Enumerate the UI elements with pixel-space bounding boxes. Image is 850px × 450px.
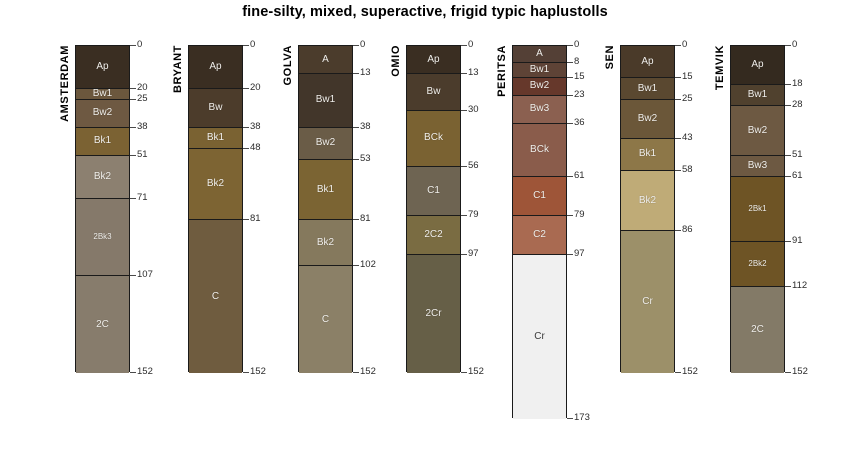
profile-site-name: GOLVA bbox=[282, 45, 294, 85]
horizon-label: Bw2 bbox=[748, 126, 767, 136]
horizon-label: Bw2 bbox=[530, 81, 549, 91]
depth-tick-label: 79 bbox=[574, 210, 585, 220]
depth-tick bbox=[130, 45, 136, 46]
horizon-label: A bbox=[536, 49, 543, 59]
horizon-label: C2 bbox=[533, 230, 546, 240]
profile-site-name: SEN bbox=[604, 45, 616, 69]
depth-tick bbox=[353, 372, 359, 373]
depth-tick bbox=[353, 219, 359, 220]
soil-horizon[interactable]: 2C2 bbox=[407, 216, 460, 255]
soil-horizon[interactable]: Cr bbox=[513, 255, 566, 419]
depth-tick-label: 102 bbox=[360, 260, 376, 270]
depth-tick bbox=[353, 127, 359, 128]
horizon-label: 2C2 bbox=[424, 230, 442, 240]
soil-horizon[interactable]: C2 bbox=[513, 216, 566, 255]
depth-tick bbox=[785, 241, 791, 242]
soil-horizon[interactable]: Bw3 bbox=[731, 156, 784, 178]
depth-tick-label: 0 bbox=[250, 40, 255, 50]
depth-tick bbox=[130, 88, 136, 89]
soil-horizon[interactable]: Bk1 bbox=[299, 160, 352, 220]
profile-site-name: TEMVIK bbox=[714, 45, 726, 90]
depth-tick bbox=[675, 230, 681, 231]
soil-horizon[interactable]: Bk1 bbox=[76, 128, 129, 156]
depth-tick bbox=[785, 105, 791, 106]
depth-tick bbox=[353, 265, 359, 266]
horizon-label: C bbox=[212, 292, 219, 302]
horizon-label: Cr bbox=[642, 297, 653, 307]
depth-tick-label: 97 bbox=[574, 249, 585, 259]
soil-horizon[interactable]: 2Bk2 bbox=[731, 242, 784, 287]
depth-tick bbox=[130, 155, 136, 156]
depth-tick-label: 152 bbox=[250, 367, 266, 377]
depth-tick bbox=[675, 138, 681, 139]
soil-horizon[interactable]: Bw2 bbox=[299, 128, 352, 160]
soil-horizon[interactable]: Ap bbox=[189, 46, 242, 89]
depth-tick-label: 38 bbox=[137, 122, 148, 132]
horizon-label: Ap bbox=[641, 57, 653, 67]
depth-tick-label: 0 bbox=[792, 40, 797, 50]
depth-tick bbox=[567, 95, 573, 96]
horizon-label: Bw bbox=[427, 87, 441, 97]
horizon-label: Bw1 bbox=[748, 90, 767, 100]
soil-horizon[interactable]: Ap bbox=[76, 46, 129, 89]
soil-profile-chart: fine-silty, mixed, superactive, frigid t… bbox=[0, 0, 850, 450]
depth-tick-label: 0 bbox=[574, 40, 579, 50]
depth-tick bbox=[130, 99, 136, 100]
depth-tick-label: 18 bbox=[792, 79, 803, 89]
soil-horizon[interactable]: A bbox=[513, 46, 566, 63]
horizon-label: Bk1 bbox=[317, 185, 334, 195]
horizon-label: 2Bk1 bbox=[748, 205, 766, 213]
horizon-label: Bk2 bbox=[94, 172, 111, 182]
depth-tick-label: 15 bbox=[682, 72, 693, 82]
depth-tick bbox=[675, 372, 681, 373]
depth-tick-label: 0 bbox=[360, 40, 365, 50]
soil-horizon[interactable]: Bk2 bbox=[189, 149, 242, 220]
depth-tick-label: 173 bbox=[574, 413, 590, 423]
depth-tick bbox=[243, 88, 249, 89]
depth-tick bbox=[675, 170, 681, 171]
depth-tick bbox=[675, 45, 681, 46]
depth-tick-label: 61 bbox=[574, 171, 585, 181]
horizon-label: Ap bbox=[96, 62, 108, 72]
profile-column: ABw1Bw2Bw3BCkC1C2Cr bbox=[512, 45, 567, 418]
soil-horizon[interactable]: Bk2 bbox=[299, 220, 352, 265]
soil-horizon[interactable]: Bk1 bbox=[189, 128, 242, 150]
depth-tick-label: 112 bbox=[792, 281, 807, 291]
soil-horizon[interactable]: BCk bbox=[407, 111, 460, 167]
horizon-label: Bw bbox=[209, 103, 223, 113]
soil-horizon[interactable]: Bw3 bbox=[513, 96, 566, 124]
depth-tick bbox=[567, 254, 573, 255]
soil-horizon[interactable]: Bw1 bbox=[621, 78, 674, 100]
depth-tick-label: 48 bbox=[250, 143, 261, 153]
horizon-label: Bw3 bbox=[530, 104, 549, 114]
soil-horizon[interactable]: Bw2 bbox=[731, 106, 784, 156]
depth-tick-label: 71 bbox=[137, 193, 148, 203]
soil-horizon[interactable]: C bbox=[299, 266, 352, 374]
horizon-label: Bk1 bbox=[94, 136, 111, 146]
soil-horizon[interactable]: Cr bbox=[621, 231, 674, 373]
soil-horizon[interactable]: Bk2 bbox=[621, 171, 674, 231]
depth-tick bbox=[243, 219, 249, 220]
soil-horizon[interactable]: 2Bk1 bbox=[731, 177, 784, 242]
depth-tick bbox=[675, 99, 681, 100]
depth-tick bbox=[567, 123, 573, 124]
profile-site-name: AMSTERDAM bbox=[59, 45, 71, 122]
depth-tick-label: 0 bbox=[468, 40, 473, 50]
soil-horizon[interactable]: C1 bbox=[513, 177, 566, 216]
profile-column: ApBw1Bw2Bk1Bk2Cr bbox=[620, 45, 675, 372]
horizon-label: 2Bk3 bbox=[93, 233, 111, 241]
depth-tick-label: 152 bbox=[137, 367, 153, 377]
depth-tick-label: 107 bbox=[137, 270, 153, 280]
depth-tick bbox=[130, 198, 136, 199]
horizon-label: C1 bbox=[533, 191, 546, 201]
depth-tick-label: 91 bbox=[792, 236, 803, 246]
depth-tick-label: 79 bbox=[468, 210, 479, 220]
depth-tick-label: 15 bbox=[574, 72, 585, 82]
horizon-label: BCk bbox=[530, 145, 549, 155]
depth-tick-label: 25 bbox=[137, 94, 148, 104]
soil-horizon[interactable]: Ap bbox=[621, 46, 674, 78]
depth-tick bbox=[567, 45, 573, 46]
depth-tick-label: 97 bbox=[468, 249, 479, 259]
profile-site-name: BRYANT bbox=[172, 45, 184, 93]
horizon-label: 2Bk2 bbox=[748, 260, 766, 268]
depth-tick-label: 61 bbox=[792, 171, 803, 181]
soil-horizon[interactable]: 2C bbox=[731, 287, 784, 373]
depth-tick-label: 152 bbox=[360, 367, 376, 377]
horizon-label: Cr bbox=[534, 332, 545, 342]
depth-tick-label: 51 bbox=[792, 150, 803, 160]
depth-tick bbox=[461, 45, 467, 46]
depth-tick bbox=[785, 286, 791, 287]
depth-tick bbox=[353, 159, 359, 160]
soil-horizon[interactable]: C bbox=[189, 220, 242, 373]
soil-horizon[interactable]: 2Cr bbox=[407, 255, 460, 373]
depth-tick bbox=[243, 372, 249, 373]
depth-tick bbox=[243, 127, 249, 128]
profile-column: ApBwBCkC12C22Cr bbox=[406, 45, 461, 372]
depth-tick bbox=[461, 110, 467, 111]
soil-horizon[interactable]: Bw1 bbox=[76, 89, 129, 100]
horizon-label: C1 bbox=[427, 186, 440, 196]
depth-tick-label: 30 bbox=[468, 105, 479, 115]
depth-tick-label: 51 bbox=[137, 150, 148, 160]
profile-site-name: PERITSA bbox=[496, 45, 508, 97]
soil-horizon[interactable]: Bk2 bbox=[76, 156, 129, 199]
depth-tick-label: 81 bbox=[250, 214, 261, 224]
soil-horizon[interactable]: Ap bbox=[731, 46, 784, 85]
horizon-label: A bbox=[322, 55, 329, 65]
horizon-label: C bbox=[322, 315, 329, 325]
depth-tick bbox=[243, 45, 249, 46]
soil-horizon[interactable]: A bbox=[299, 46, 352, 74]
soil-horizon[interactable]: Bw bbox=[407, 74, 460, 111]
horizon-label: Bw2 bbox=[93, 108, 112, 118]
horizon-label: Bk1 bbox=[207, 133, 224, 143]
profile-site-name: OMIO bbox=[390, 45, 402, 77]
horizon-label: 2C bbox=[96, 320, 109, 330]
depth-tick-label: 13 bbox=[360, 68, 371, 78]
profile-column: ApBw1Bw2Bk1Bk22Bk32C bbox=[75, 45, 130, 372]
soil-horizon[interactable]: Bw1 bbox=[299, 74, 352, 128]
profile-column: ApBw1Bw2Bw32Bk12Bk22C bbox=[730, 45, 785, 372]
depth-tick-label: 0 bbox=[137, 40, 142, 50]
horizon-label: Bw1 bbox=[316, 95, 335, 105]
depth-tick-label: 8 bbox=[574, 57, 579, 67]
depth-tick-label: 43 bbox=[682, 133, 693, 143]
soil-horizon[interactable]: Ap bbox=[407, 46, 460, 74]
horizon-label: Bk1 bbox=[639, 149, 656, 159]
depth-tick-label: 86 bbox=[682, 225, 693, 235]
depth-tick bbox=[461, 73, 467, 74]
horizon-label: Bk2 bbox=[317, 238, 334, 248]
soil-horizon[interactable]: Bw bbox=[189, 89, 242, 128]
depth-tick-label: 28 bbox=[792, 100, 803, 110]
depth-tick bbox=[567, 62, 573, 63]
depth-tick-label: 152 bbox=[468, 367, 484, 377]
horizon-label: Bk2 bbox=[639, 196, 656, 206]
depth-tick bbox=[243, 148, 249, 149]
soil-horizon[interactable]: Bw1 bbox=[513, 63, 566, 78]
depth-tick bbox=[130, 127, 136, 128]
soil-horizon[interactable]: BCk bbox=[513, 124, 566, 178]
horizon-label: Bw1 bbox=[93, 89, 112, 99]
horizon-label: Bw1 bbox=[638, 84, 657, 94]
depth-tick-label: 58 bbox=[682, 165, 693, 175]
depth-tick bbox=[130, 275, 136, 276]
depth-tick bbox=[785, 84, 791, 85]
horizon-label: Bw3 bbox=[748, 161, 767, 171]
depth-tick bbox=[567, 215, 573, 216]
depth-tick bbox=[461, 215, 467, 216]
profile-column: ABw1Bw2Bk1Bk2C bbox=[298, 45, 353, 372]
horizon-label: Ap bbox=[427, 55, 439, 65]
depth-tick bbox=[461, 254, 467, 255]
soil-horizon[interactable]: Bw2 bbox=[513, 78, 566, 95]
depth-tick-label: 53 bbox=[360, 154, 371, 164]
depth-tick bbox=[461, 166, 467, 167]
soil-horizon[interactable]: 2Bk3 bbox=[76, 199, 129, 277]
horizon-label: Bw2 bbox=[316, 138, 335, 148]
depth-tick bbox=[461, 372, 467, 373]
horizon-label: Bk2 bbox=[207, 179, 224, 189]
depth-tick-label: 152 bbox=[682, 367, 698, 377]
depth-tick bbox=[130, 372, 136, 373]
depth-tick bbox=[353, 45, 359, 46]
horizon-label: 2Cr bbox=[425, 309, 441, 319]
chart-title: fine-silty, mixed, superactive, frigid t… bbox=[0, 4, 850, 20]
depth-tick bbox=[785, 372, 791, 373]
depth-tick bbox=[785, 45, 791, 46]
depth-tick-label: 25 bbox=[682, 94, 693, 104]
soil-horizon[interactable]: 2C bbox=[76, 276, 129, 373]
depth-tick-label: 23 bbox=[574, 90, 585, 100]
horizon-label: Ap bbox=[751, 60, 763, 70]
depth-tick-label: 13 bbox=[468, 68, 479, 78]
horizon-label: BCk bbox=[424, 133, 443, 143]
soil-horizon[interactable]: Bw1 bbox=[731, 85, 784, 107]
profile-column: ApBwBk1Bk2C bbox=[188, 45, 243, 372]
depth-tick bbox=[567, 418, 573, 419]
depth-tick bbox=[353, 73, 359, 74]
depth-tick bbox=[785, 155, 791, 156]
depth-tick-label: 36 bbox=[574, 118, 585, 128]
depth-tick-label: 20 bbox=[250, 83, 261, 93]
horizon-label: Bw2 bbox=[638, 114, 657, 124]
depth-tick-label: 20 bbox=[137, 83, 148, 93]
soil-horizon[interactable]: Bw2 bbox=[76, 100, 129, 128]
depth-tick bbox=[785, 176, 791, 177]
depth-tick bbox=[567, 77, 573, 78]
horizon-label: Bw1 bbox=[530, 65, 549, 75]
depth-tick bbox=[675, 77, 681, 78]
depth-tick-label: 81 bbox=[360, 214, 371, 224]
soil-horizon[interactable]: Bw2 bbox=[621, 100, 674, 139]
soil-horizon[interactable]: Bk1 bbox=[621, 139, 674, 171]
horizon-label: 2C bbox=[751, 325, 764, 335]
horizon-label: Ap bbox=[209, 62, 221, 72]
depth-tick-label: 38 bbox=[360, 122, 371, 132]
soil-horizon[interactable]: C1 bbox=[407, 167, 460, 217]
depth-tick-label: 38 bbox=[250, 122, 261, 132]
depth-tick-label: 152 bbox=[792, 367, 808, 377]
depth-tick bbox=[567, 176, 573, 177]
depth-tick-label: 0 bbox=[682, 40, 687, 50]
depth-tick-label: 56 bbox=[468, 161, 479, 171]
